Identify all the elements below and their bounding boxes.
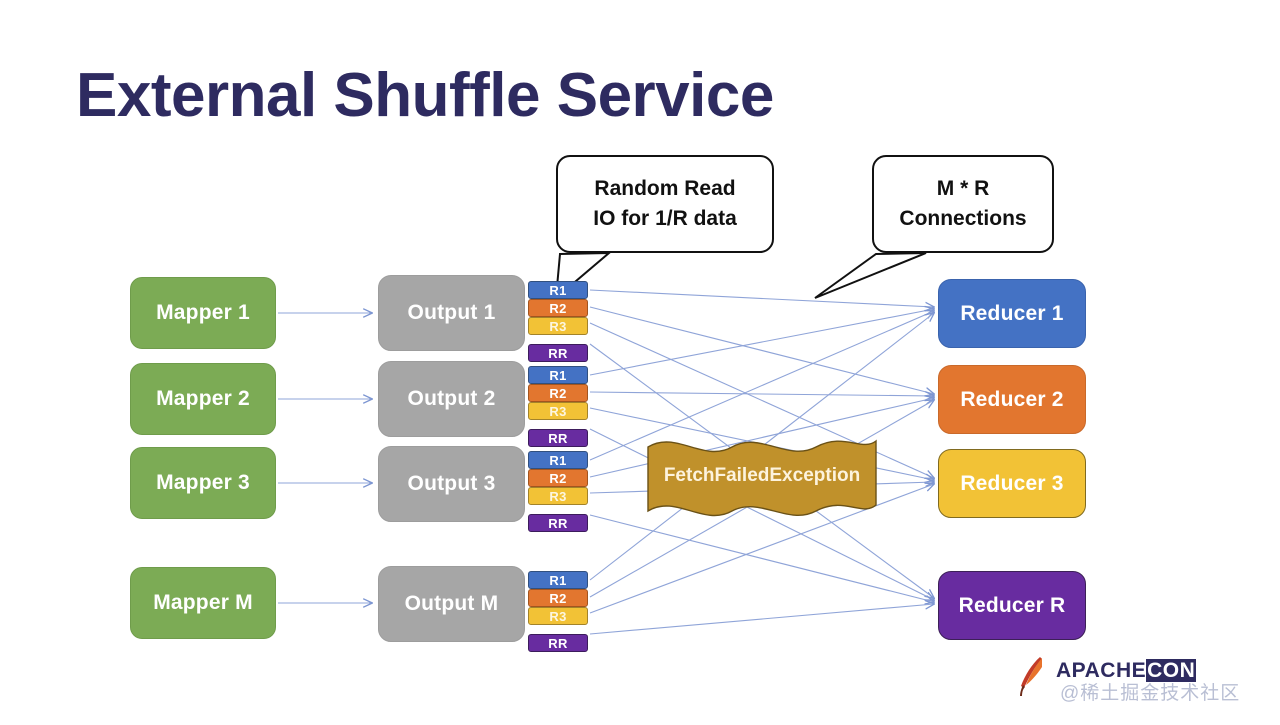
reducer-label-2: Reducer 2 [960, 388, 1063, 412]
chip-r1-stack2[interactable]: R1 [528, 366, 588, 384]
chip-r1-stack1[interactable]: R1 [528, 281, 588, 299]
chip-label: R1 [549, 283, 566, 298]
chip-stack-m: R1 R2 R3 RR [528, 571, 588, 652]
chip-r2-stack3[interactable]: R2 [528, 469, 588, 487]
output-label-2: Output 2 [408, 387, 496, 411]
fetch-failed-exception-label: FetchFailedException [648, 432, 876, 520]
chip-r1-stack3[interactable]: R1 [528, 451, 588, 469]
chip-label: RR [548, 636, 567, 651]
reducer-node-2[interactable]: Reducer 2 [938, 365, 1086, 434]
callout-connections-line1: M * R [937, 174, 990, 204]
chip-r1-stackm[interactable]: R1 [528, 571, 588, 589]
chip-label: R3 [549, 489, 566, 504]
chip-rr-stackm[interactable]: RR [528, 634, 588, 652]
reducer-label-r: Reducer R [959, 594, 1066, 618]
chip-rr-stack2[interactable]: RR [528, 429, 588, 447]
mapper-label-m: Mapper M [153, 591, 253, 615]
output-node-2[interactable]: Output 2 [378, 361, 525, 437]
chip-label: R3 [549, 404, 566, 419]
chip-stack-3: R1 R2 R3 RR [528, 451, 588, 532]
output-label-3: Output 3 [408, 472, 496, 496]
mapper-label-1: Mapper 1 [156, 301, 250, 325]
reducer-label-3: Reducer 3 [960, 472, 1063, 496]
chip-rr-stack1[interactable]: RR [528, 344, 588, 362]
mapper-node-3[interactable]: Mapper 3 [130, 447, 276, 519]
chip-label: RR [548, 431, 567, 446]
chip-label: R3 [549, 609, 566, 624]
chip-stack-1: R1 R2 R3 RR [528, 281, 588, 362]
apache-feather-icon [1012, 655, 1052, 697]
callout-random-read: Random Read IO for 1/R data [556, 155, 774, 253]
mapper-node-m[interactable]: Mapper M [130, 567, 276, 639]
page-title: External Shuffle Service [76, 60, 774, 131]
chip-label: RR [548, 516, 567, 531]
chip-label: R2 [549, 301, 566, 316]
chip-r2-stack1[interactable]: R2 [528, 299, 588, 317]
callout-connections-line2: Connections [899, 204, 1026, 234]
chip-label: R1 [549, 573, 566, 588]
slide-canvas: External Shuffle Service [0, 0, 1280, 725]
mapper-label-3: Mapper 3 [156, 471, 250, 495]
chip-label: R1 [549, 453, 566, 468]
output-node-3[interactable]: Output 3 [378, 446, 525, 522]
chip-label: R2 [549, 386, 566, 401]
reducer-node-3[interactable]: Reducer 3 [938, 449, 1086, 518]
output-label-m: Output M [405, 592, 499, 616]
chip-label: R2 [549, 591, 566, 606]
chip-label: R1 [549, 368, 566, 383]
reducer-node-1[interactable]: Reducer 1 [938, 279, 1086, 348]
output-node-1[interactable]: Output 1 [378, 275, 525, 351]
callout-random-read-line2: IO for 1/R data [593, 204, 737, 234]
chip-stack-2: R1 R2 R3 RR [528, 366, 588, 447]
reducer-node-r[interactable]: Reducer R [938, 571, 1086, 640]
mapper-label-2: Mapper 2 [156, 387, 250, 411]
chip-r3-stack1[interactable]: R3 [528, 317, 588, 335]
chip-r3-stack3[interactable]: R3 [528, 487, 588, 505]
chip-r3-stackm[interactable]: R3 [528, 607, 588, 625]
reducer-label-1: Reducer 1 [960, 302, 1063, 326]
watermark-text: @稀土掘金技术社区 [1060, 678, 1240, 705]
chip-label: R2 [549, 471, 566, 486]
output-label-1: Output 1 [408, 301, 496, 325]
chip-label: RR [548, 346, 567, 361]
chip-r3-stack2[interactable]: R3 [528, 402, 588, 420]
chip-r2-stack2[interactable]: R2 [528, 384, 588, 402]
output-node-m[interactable]: Output M [378, 566, 525, 642]
fetch-failed-exception-banner: FetchFailedException [648, 432, 876, 520]
chip-rr-stack3[interactable]: RR [528, 514, 588, 532]
mapper-node-2[interactable]: Mapper 2 [130, 363, 276, 435]
mapper-node-1[interactable]: Mapper 1 [130, 277, 276, 349]
callout-tail-connections [815, 253, 926, 298]
callout-random-read-line1: Random Read [594, 174, 735, 204]
callout-connections: M * R Connections [872, 155, 1054, 253]
chip-r2-stackm[interactable]: R2 [528, 589, 588, 607]
chip-label: R3 [549, 319, 566, 334]
